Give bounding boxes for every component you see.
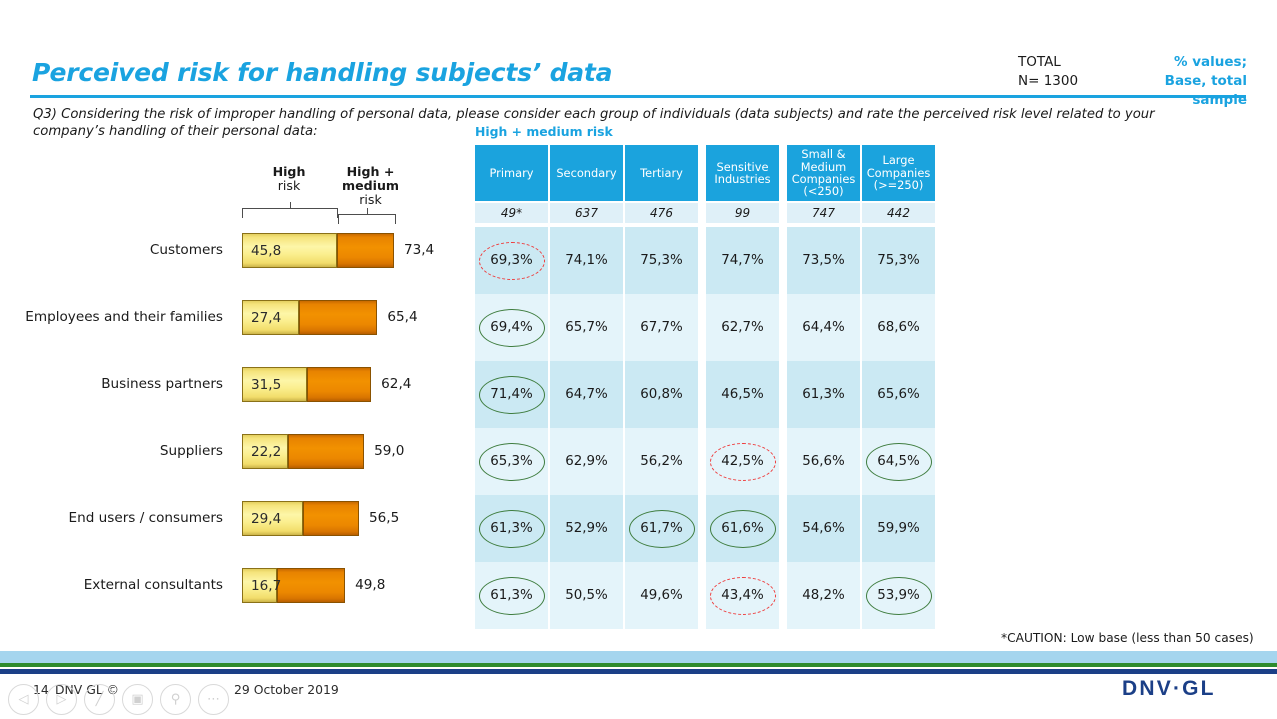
table-cell-value: 62,9%	[565, 454, 608, 469]
table-cell-value: 61,6%	[721, 521, 764, 536]
table-cell[interactable]: 50,5%	[550, 562, 623, 629]
bar-value-total: 73,4	[404, 228, 434, 272]
table-cell-value: 67,7%	[640, 320, 683, 335]
table-cell-value: 62,7%	[721, 320, 764, 335]
bar-category-label: Suppliers	[0, 429, 232, 473]
table-cell-value: 61,7%	[640, 521, 683, 536]
table-cell[interactable]: 65,3%	[475, 428, 548, 495]
bar-row: Customers45,873,4	[0, 228, 470, 272]
legend-high-risk: High risk	[252, 165, 326, 193]
bar-value-high: 31,5	[251, 367, 281, 402]
table-cell-value: 52,9%	[565, 521, 608, 536]
legend-highmedium-title: High + medium	[318, 165, 423, 193]
table-cell[interactable]: 56,2%	[625, 428, 698, 495]
table-cell[interactable]: 61,6%	[706, 495, 779, 562]
table-cell-value: 65,6%	[877, 387, 920, 402]
table-note: High + medium risk	[475, 124, 613, 139]
table-cell-value: 61,3%	[802, 387, 845, 402]
table-cell-value: 73,5%	[802, 253, 845, 268]
table-cell-value: 74,1%	[565, 253, 608, 268]
bar-value-total: 49,8	[355, 563, 385, 607]
layout-grid-icon[interactable]: ▣	[122, 684, 153, 715]
bar-value-high: 45,8	[251, 233, 281, 268]
bar-track: 22,2	[242, 434, 364, 469]
next-slide-icon[interactable]: ▷	[46, 684, 77, 715]
prev-slide-icon[interactable]: ◁	[8, 684, 39, 715]
slide-date: 29 October 2019	[234, 682, 339, 697]
table-cell-value: 64,5%	[877, 454, 920, 469]
table-cell[interactable]: 75,3%	[625, 227, 698, 294]
table-base-value: 637	[550, 203, 623, 223]
table-cell[interactable]: 74,7%	[706, 227, 779, 294]
table-column-header[interactable]: Large Companies (>=250)	[862, 145, 935, 201]
table-cell[interactable]: 62,7%	[706, 294, 779, 361]
table-cell-value: 64,7%	[565, 387, 608, 402]
bar-row: End users / consumers29,456,5	[0, 496, 470, 540]
table-cell-value: 53,9%	[877, 588, 920, 603]
table-cell-value: 56,2%	[640, 454, 683, 469]
table-base-value: 476	[625, 203, 698, 223]
table-cell[interactable]: 61,7%	[625, 495, 698, 562]
table-cell-value: 64,4%	[802, 320, 845, 335]
bar-value-total: 65,4	[387, 295, 417, 339]
bar-chart: High risk High + medium risk Customers45…	[0, 0, 470, 660]
table-cell-value: 75,3%	[640, 253, 683, 268]
table-cell-value: 69,3%	[490, 253, 533, 268]
table-cell-value: 71,4%	[490, 387, 533, 402]
table-base-value: 747	[787, 203, 860, 223]
values-note-line1: % values;	[1106, 53, 1247, 72]
table-cell[interactable]: 42,5%	[706, 428, 779, 495]
table-column-header[interactable]: Secondary	[550, 145, 623, 201]
table-cell[interactable]: 67,7%	[625, 294, 698, 361]
table-cell[interactable]: 64,7%	[550, 361, 623, 428]
bar-value-total: 59,0	[374, 429, 404, 473]
table-base-value: 99	[706, 203, 779, 223]
table-cell[interactable]: 69,3%	[475, 227, 548, 294]
legend-high-sub: risk	[252, 179, 326, 193]
table-cell[interactable]: 56,6%	[787, 428, 860, 495]
bar-value-high: 27,4	[251, 300, 281, 335]
legend-high-title: High	[252, 165, 326, 179]
table-cell-value: 61,3%	[490, 588, 533, 603]
search-icon[interactable]: ⚲	[160, 684, 191, 715]
table-cell[interactable]: 73,5%	[787, 227, 860, 294]
table-cell-value: 46,5%	[721, 387, 764, 402]
bar-value-total: 62,4	[381, 362, 411, 406]
pen-icon[interactable]: ╱	[84, 684, 115, 715]
bar-value-high: 16,7	[251, 568, 281, 603]
table-cell[interactable]: 52,9%	[550, 495, 623, 562]
table-cell[interactable]: 65,7%	[550, 294, 623, 361]
table-cell[interactable]: 75,3%	[862, 227, 935, 294]
table-cell[interactable]: 46,5%	[706, 361, 779, 428]
table-column-header[interactable]: Primary	[475, 145, 548, 201]
caution-note: *CAUTION: Low base (less than 50 cases)	[1001, 631, 1254, 645]
values-note-block: % values; Base, total sample	[1106, 53, 1247, 110]
bar-row: External consultants16,749,8	[0, 563, 470, 607]
table-cell[interactable]: 64,4%	[787, 294, 860, 361]
table-cell-value: 48,2%	[802, 588, 845, 603]
bar-segment-high-medium	[288, 434, 364, 469]
table-cell-value: 74,7%	[721, 253, 764, 268]
table-cell[interactable]: 61,3%	[475, 495, 548, 562]
bar-track: 29,4	[242, 501, 359, 536]
values-note-line2: Base, total sample	[1106, 72, 1247, 110]
bracket-high-risk	[242, 208, 338, 218]
footer-bar-navy	[0, 669, 1277, 674]
table-cell[interactable]: 54,6%	[787, 495, 860, 562]
table-cell-value: 54,6%	[802, 521, 845, 536]
bar-track: 27,4	[242, 300, 377, 335]
table-column-header[interactable]: Tertiary	[625, 145, 698, 201]
bar-segment-high-medium	[299, 300, 378, 335]
bar-value-high: 22,2	[251, 434, 281, 469]
bar-track: 31,5	[242, 367, 371, 402]
table-cell-value: 75,3%	[877, 253, 920, 268]
table-cell[interactable]: 61,3%	[475, 562, 548, 629]
table-cell[interactable]: 43,4%	[706, 562, 779, 629]
table-cell-value: 43,4%	[721, 588, 764, 603]
table-cell[interactable]: 64,5%	[862, 428, 935, 495]
table-cell[interactable]: 74,1%	[550, 227, 623, 294]
table-cell-value: 49,6%	[640, 588, 683, 603]
bar-category-label: End users / consumers	[0, 496, 232, 540]
bracket-high-medium	[338, 214, 396, 224]
dnv-gl-logo: DNV·GL	[1122, 677, 1216, 701]
more-options-icon[interactable]: ⋯	[198, 684, 229, 715]
table-cell[interactable]: 65,6%	[862, 361, 935, 428]
table-cell[interactable]: 48,2%	[787, 562, 860, 629]
table-cell[interactable]: 69,4%	[475, 294, 548, 361]
table-cell-value: 69,4%	[490, 320, 533, 335]
table-cell-value: 65,7%	[565, 320, 608, 335]
total-sample-block: TOTAL N= 1300	[1018, 53, 1078, 91]
legend-high-medium-risk: High + medium risk	[318, 165, 423, 207]
bar-track: 45,8	[242, 233, 394, 268]
bar-segment-high-medium	[337, 233, 394, 268]
bar-category-label: Business partners	[0, 362, 232, 406]
table-cell[interactable]: 62,9%	[550, 428, 623, 495]
footer-bar-light	[0, 651, 1277, 663]
table-cell-value: 42,5%	[721, 454, 764, 469]
table-cell-value: 59,9%	[877, 521, 920, 536]
total-label: TOTAL	[1018, 53, 1078, 72]
table-base-value: 442	[862, 203, 935, 223]
table-cell-value: 60,8%	[640, 387, 683, 402]
table-base-value: 49*	[475, 203, 548, 223]
table-cell-value: 56,6%	[802, 454, 845, 469]
bracket-tick-high	[290, 202, 291, 209]
table-cell[interactable]: 59,9%	[862, 495, 935, 562]
table-cell[interactable]: 60,8%	[625, 361, 698, 428]
table-cell[interactable]: 53,9%	[862, 562, 935, 629]
table-cell[interactable]: 49,6%	[625, 562, 698, 629]
bar-row: Suppliers22,259,0	[0, 429, 470, 473]
bar-value-high: 29,4	[251, 501, 281, 536]
bar-row: Business partners31,562,4	[0, 362, 470, 406]
bar-category-label: External consultants	[0, 563, 232, 607]
table-column-header[interactable]: Small & Medium Companies (<250)	[787, 145, 860, 201]
bar-track: 16,7	[242, 568, 345, 603]
bar-segment-high-medium	[303, 501, 359, 536]
bar-segment-high-medium	[277, 568, 346, 603]
table-cell-value: 61,3%	[490, 521, 533, 536]
table-cell-value: 68,6%	[877, 320, 920, 335]
table-cell-value: 65,3%	[490, 454, 533, 469]
table-cell[interactable]: 68,6%	[862, 294, 935, 361]
table-column-header[interactable]: Sensitive Industries	[706, 145, 779, 201]
table-cell[interactable]: 71,4%	[475, 361, 548, 428]
total-n: N= 1300	[1018, 72, 1078, 91]
bar-value-total: 56,5	[369, 496, 399, 540]
bracket-tick-highmedium	[367, 208, 368, 215]
table-cell[interactable]: 61,3%	[787, 361, 860, 428]
bar-row: Employees and their families27,465,4	[0, 295, 470, 339]
legend-highmedium-sub: risk	[318, 193, 423, 207]
bar-category-label: Customers	[0, 228, 232, 272]
table-cell-value: 50,5%	[565, 588, 608, 603]
bar-segment-high-medium	[307, 367, 371, 402]
bar-category-label: Employees and their families	[0, 295, 232, 339]
